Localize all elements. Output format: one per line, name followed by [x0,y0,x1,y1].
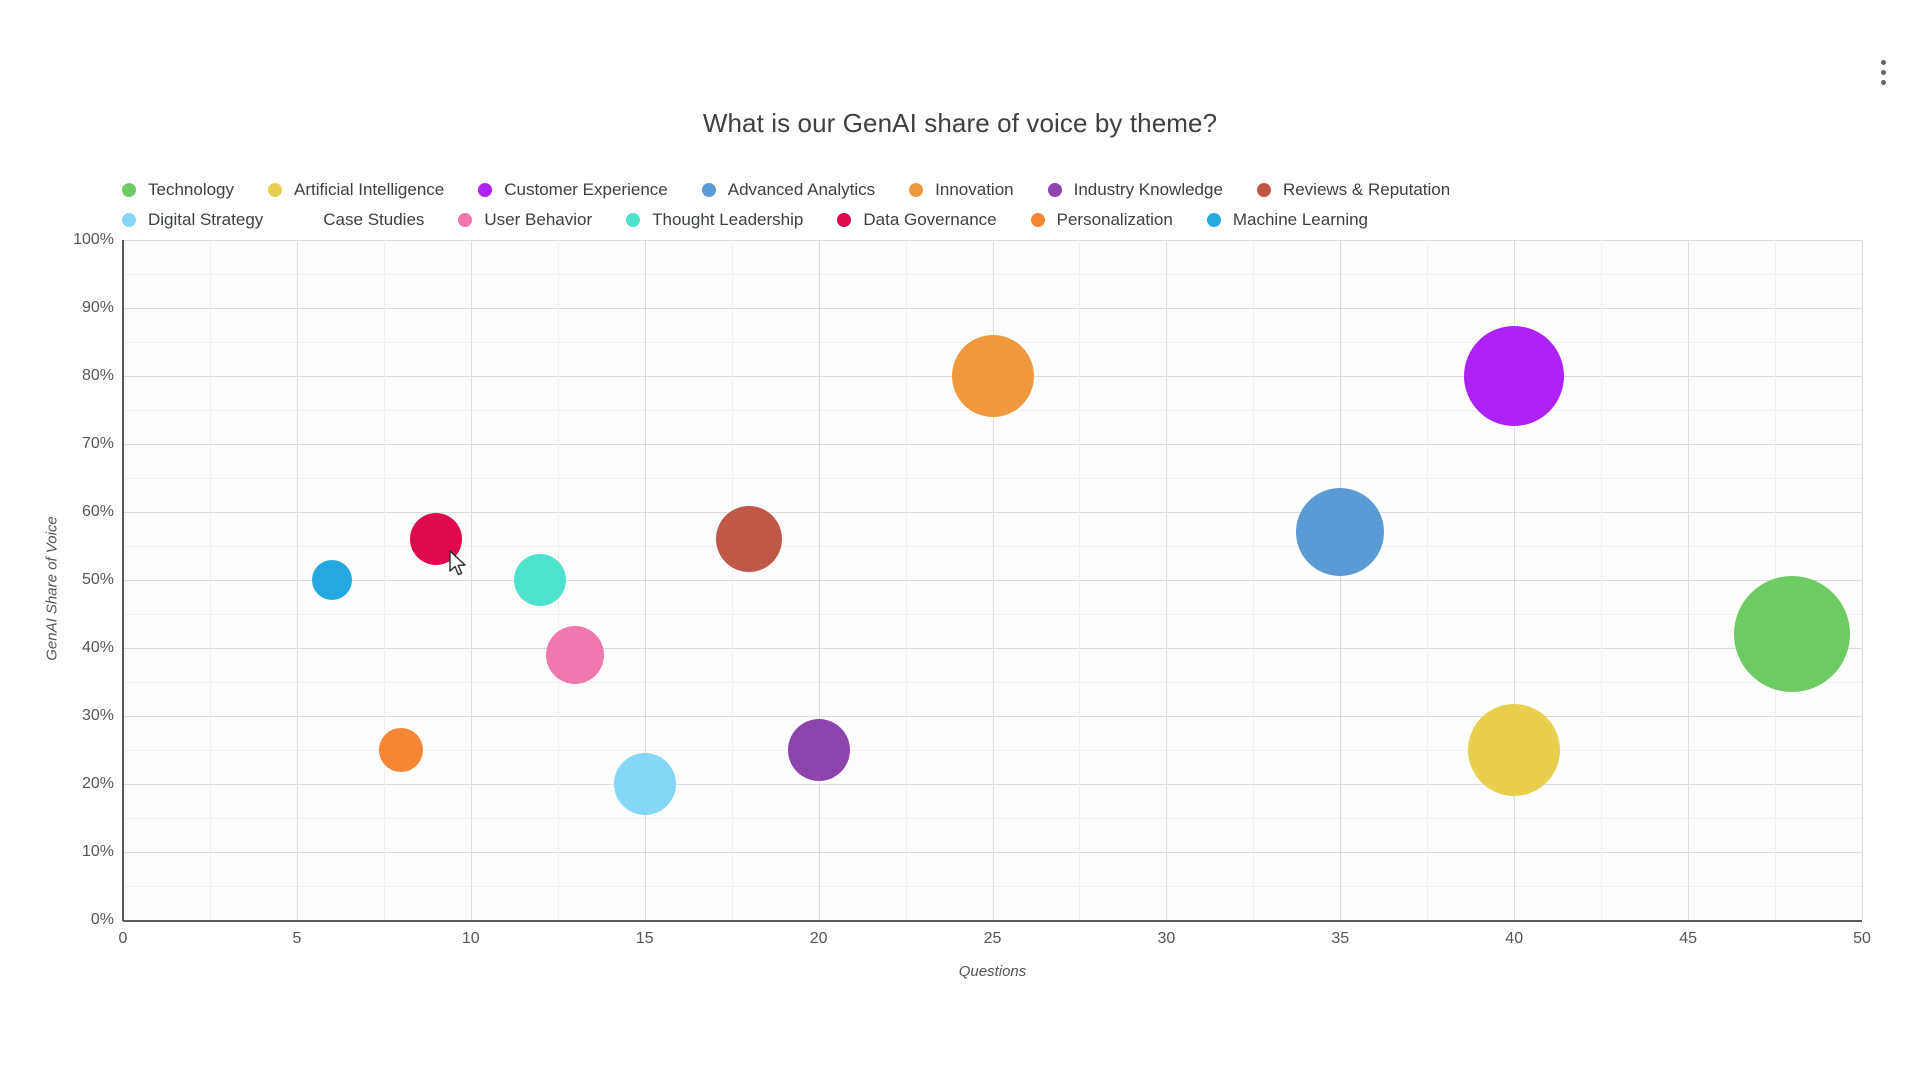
x-axis-line [123,920,1862,922]
x-axis-tick-label: 45 [1679,930,1697,948]
y-axis-tick-label: 80% [42,367,114,385]
x-axis-tick-label: 20 [810,930,828,948]
y-axis-tick-label: 30% [42,707,114,725]
x-axis-label: Questions [123,963,1862,980]
gridline-vertical [297,240,298,920]
plot-area [123,240,1862,920]
gridline-vertical [1166,240,1167,920]
x-axis-tick-label: 35 [1331,930,1349,948]
gridline-vertical [906,240,907,920]
plot-wrapper: 0%10%20%30%40%50%60%70%80%90%100% 051015… [0,0,1920,1080]
bubble-technology[interactable] [1734,576,1850,692]
bubble-machine-learning[interactable] [312,560,352,600]
y-axis-label: GenAI Share of Voice [44,489,61,689]
x-axis-tick-label: 5 [292,930,301,948]
gridline-vertical [1253,240,1254,920]
gridline-vertical [645,240,646,920]
y-axis-tick-label: 0% [42,911,114,929]
bubble-case-studies[interactable] [616,347,674,405]
gridline-vertical [384,240,385,920]
x-axis-tick-label: 30 [1157,930,1175,948]
y-axis-tick-label: 10% [42,843,114,861]
x-axis-tick-label: 10 [462,930,480,948]
y-axis-tick-label: 20% [42,775,114,793]
gridline-vertical [1688,240,1689,920]
gridline-vertical [819,240,820,920]
gridline-vertical [732,240,733,920]
bubble-personalization[interactable] [379,728,423,772]
bubble-digital-strategy[interactable] [614,753,676,815]
x-axis-tick-label: 50 [1853,930,1871,948]
gridline-vertical [471,240,472,920]
gridline-vertical [1862,240,1863,920]
x-axis-tick-label: 0 [119,930,128,948]
gridline-vertical [1079,240,1080,920]
x-axis-tick-label: 15 [636,930,654,948]
bubble-data-governance[interactable] [410,513,462,565]
x-axis-tick-label: 40 [1505,930,1523,948]
gridline-vertical [1601,240,1602,920]
bubble-artificial-intelligence[interactable] [1468,704,1560,796]
y-axis-tick-label: 70% [42,435,114,453]
bubble-industry-knowledge[interactable] [788,719,850,781]
chart-page: What is our GenAI share of voice by them… [0,0,1920,1080]
y-axis-tick-label: 90% [42,299,114,317]
y-axis-tick-label: 100% [42,231,114,249]
bubble-user-behavior[interactable] [546,626,604,684]
gridline-vertical [1427,240,1428,920]
x-axis-tick-label: 25 [984,930,1002,948]
gridline-vertical [1340,240,1341,920]
y-axis-line [122,240,124,921]
bubble-innovation[interactable] [952,335,1034,417]
bubble-advanced-analytics[interactable] [1296,488,1384,576]
bubble-thought-leadership[interactable] [514,554,566,606]
bubble-customer-experience[interactable] [1464,326,1564,426]
bubble-reviews-reputation[interactable] [716,506,782,572]
x-axis-ticks: 05101520253035404550 [123,930,1862,956]
gridline-vertical [210,240,211,920]
